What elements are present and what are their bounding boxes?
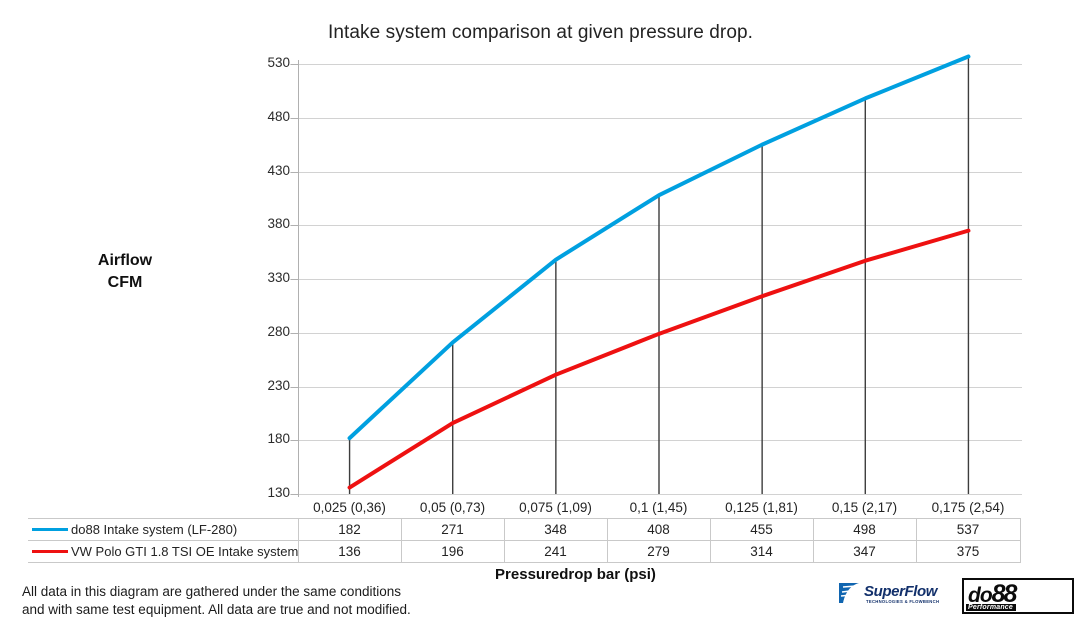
superflow-swoosh-icon (836, 580, 862, 606)
superflow-tagline: TECHNOLOGIES & FLOWBENCH (866, 599, 939, 604)
data-table: 0,025 (0,36) 0,05 (0,73) 0,075 (1,09) 0,… (28, 497, 1021, 563)
data-cell: 136 (298, 541, 401, 563)
footnote-line-2: and with same test equipment. All data a… (22, 601, 411, 619)
data-cell: 408 (607, 519, 710, 541)
do88-tagline: Performance (966, 604, 1016, 611)
legend-entry-do88: do88 Intake system (LF-280) (28, 519, 298, 541)
x-axis-title-text: Pressuredrop bar (psi) (425, 566, 656, 583)
data-cell: 279 (607, 541, 710, 563)
data-cell: 347 (813, 541, 916, 563)
data-cell: 498 (813, 519, 916, 541)
x-category-header: 0,05 (0,73) (401, 497, 504, 519)
data-cell: 537 (916, 519, 1020, 541)
x-category-header: 0,075 (1,09) (504, 497, 607, 519)
table-row-vw-polo-oe: VW Polo GTI 1.8 TSI OE Intake system 136… (28, 541, 1020, 563)
x-category-header: 0,025 (0,36) (298, 497, 401, 519)
do88-logo: do88 Performance (962, 578, 1074, 614)
footnote: All data in this diagram are gathered un… (22, 583, 411, 619)
x-category-header: 0,125 (1,81) (710, 497, 813, 519)
x-category-header: 0,1 (1,45) (607, 497, 710, 519)
legend-label-do88: do88 Intake system (LF-280) (71, 522, 237, 537)
data-cell: 455 (710, 519, 813, 541)
table-corner-cell (28, 497, 298, 519)
x-category-header: 0,175 (2,54) (916, 497, 1020, 519)
data-cell: 348 (504, 519, 607, 541)
logo-bar: SuperFlow TECHNOLOGIES & FLOWBENCH do88 … (836, 578, 1072, 612)
table-header-row: 0,025 (0,36) 0,05 (0,73) 0,075 (1,09) 0,… (28, 497, 1020, 519)
data-cell: 182 (298, 519, 401, 541)
legend-swatch-line-icon (32, 528, 68, 532)
data-cell: 241 (504, 541, 607, 563)
superflow-wordmark: SuperFlow (864, 583, 937, 600)
legend-swatch-line-icon (32, 550, 68, 554)
table-row-do88: do88 Intake system (LF-280) 182 271 348 … (28, 519, 1020, 541)
data-cell: 271 (401, 519, 504, 541)
data-cell: 196 (401, 541, 504, 563)
x-category-header: 0,15 (2,17) (813, 497, 916, 519)
footnote-line-1: All data in this diagram are gathered un… (22, 583, 411, 601)
data-cell: 314 (710, 541, 813, 563)
superflow-logo: SuperFlow TECHNOLOGIES & FLOWBENCH (836, 580, 948, 608)
legend-entry-vw-polo-oe: VW Polo GTI 1.8 TSI OE Intake system (28, 541, 298, 563)
legend-label-vw-polo-oe: VW Polo GTI 1.8 TSI OE Intake system (71, 544, 298, 559)
data-cell: 375 (916, 541, 1020, 563)
